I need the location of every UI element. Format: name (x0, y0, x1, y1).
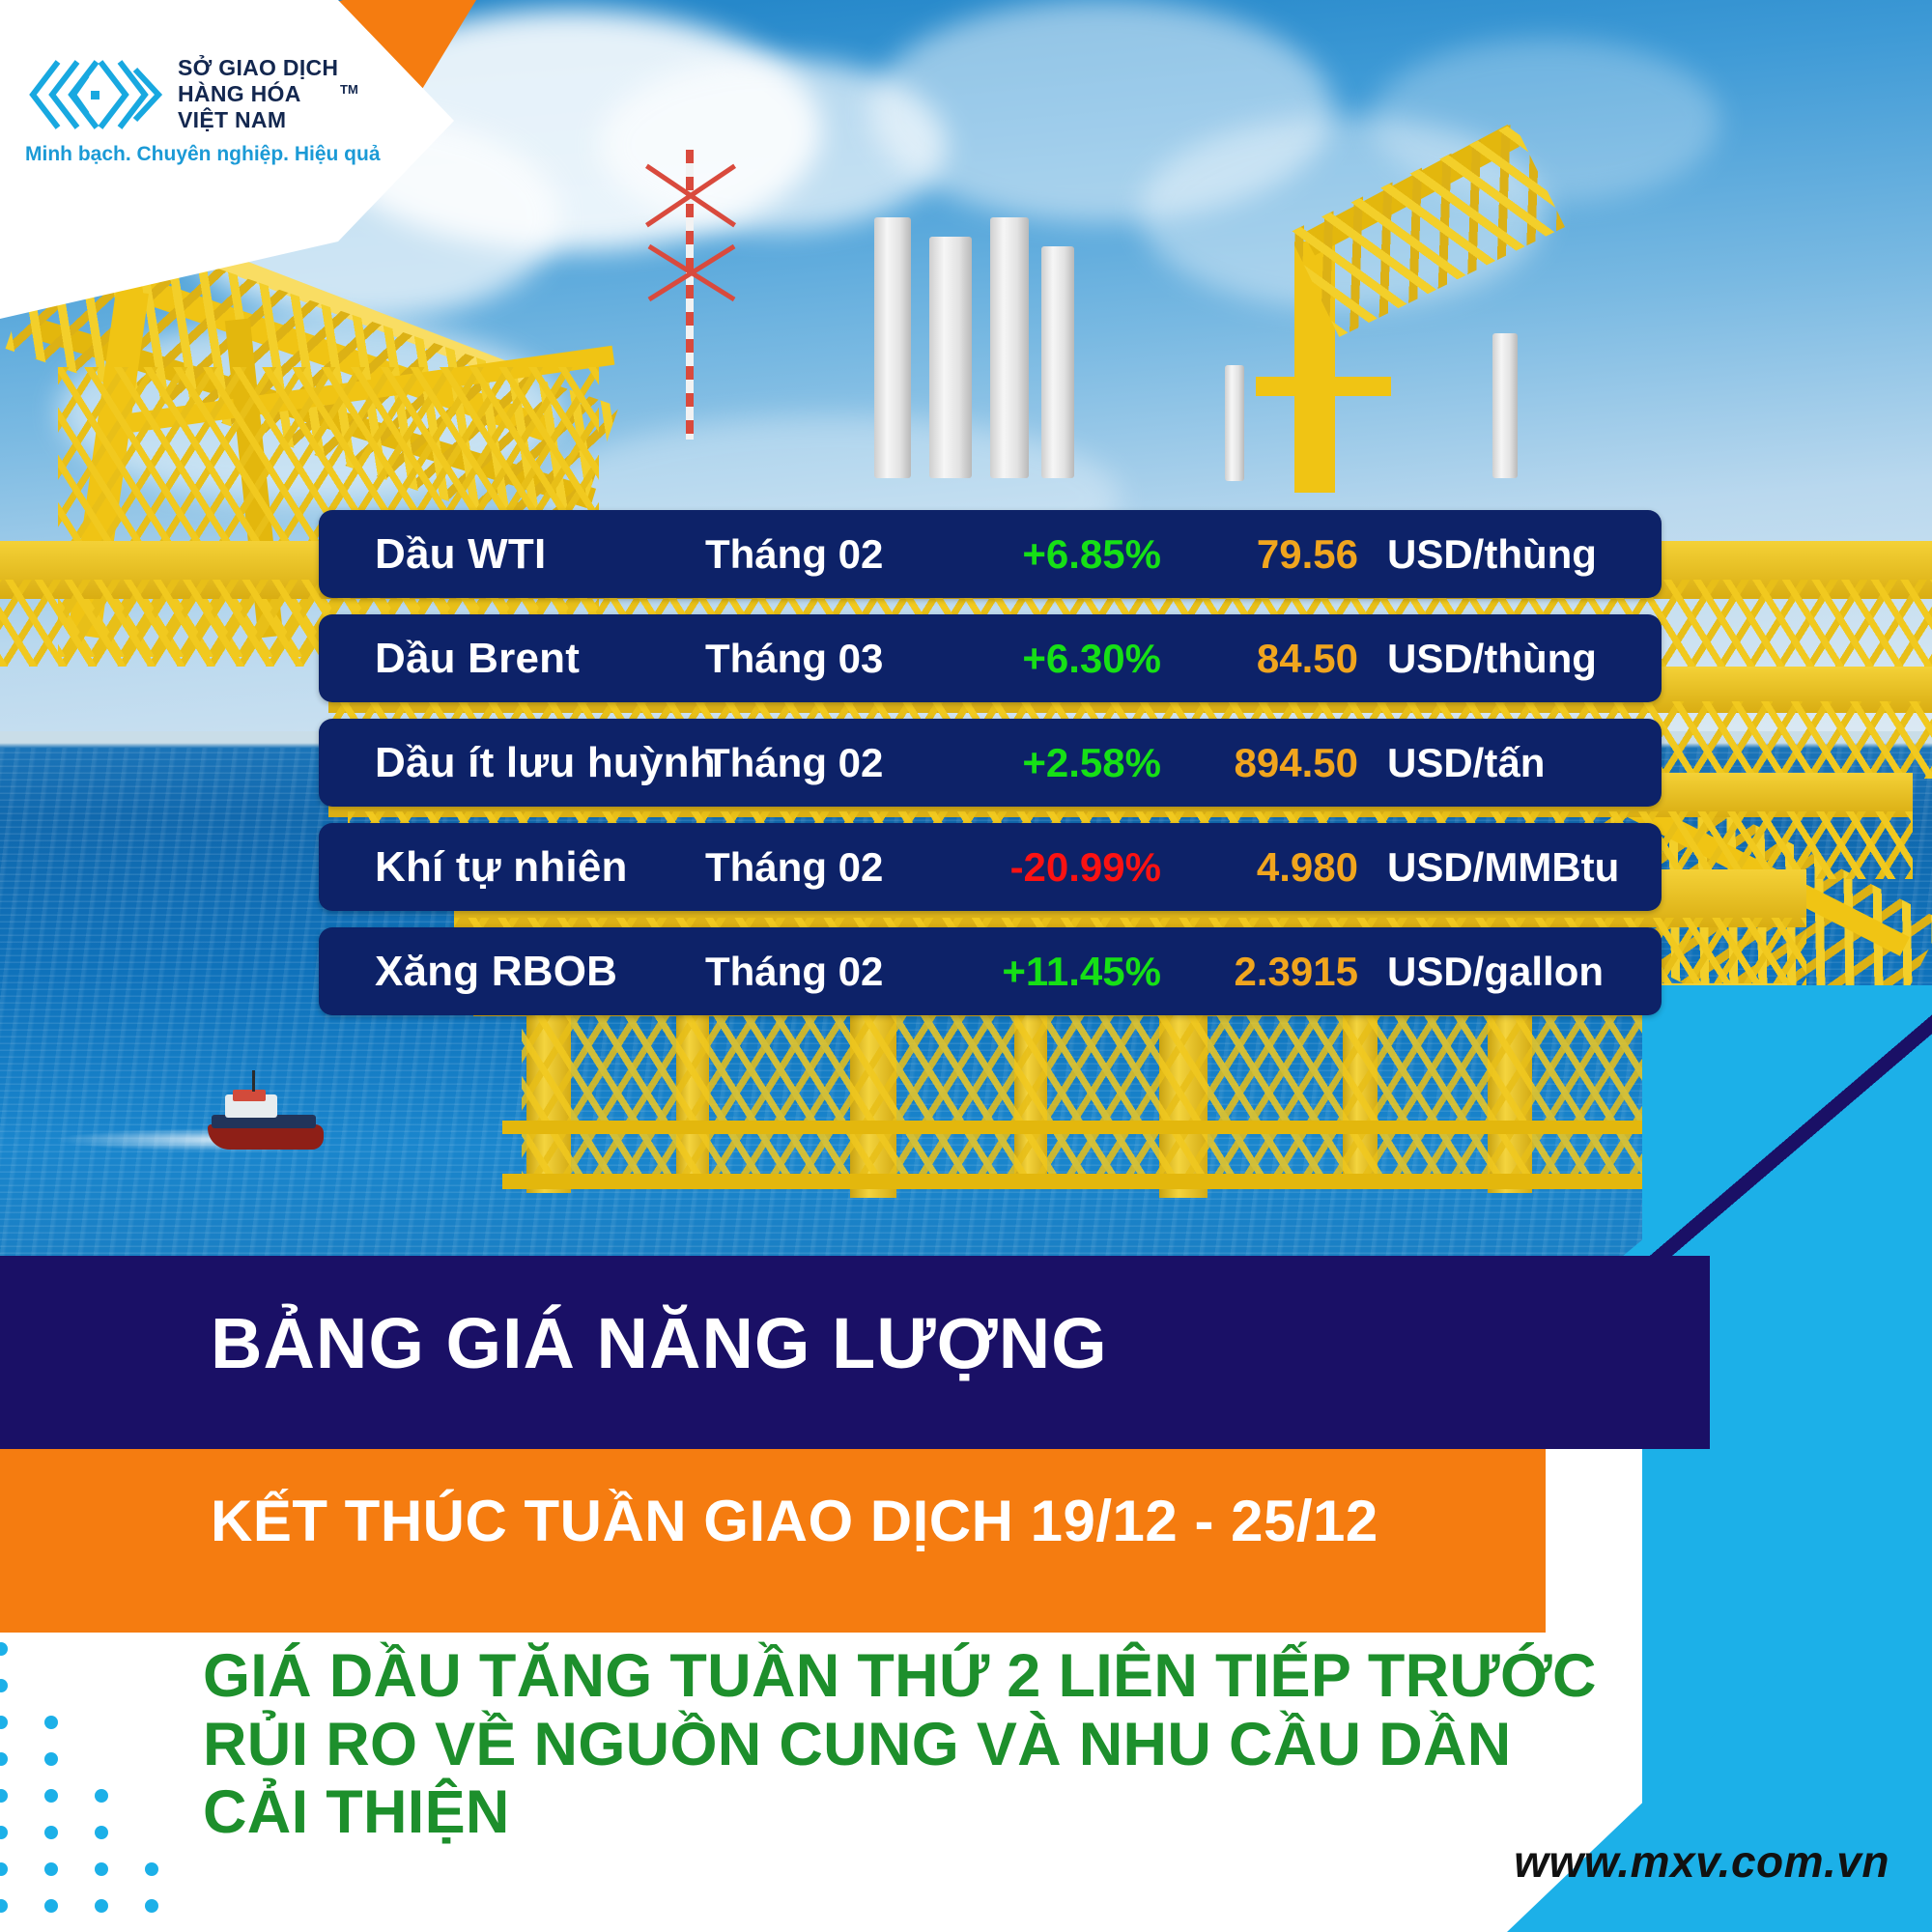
dot-pattern-decoration (0, 1642, 222, 1932)
contract-month: Tháng 03 (705, 636, 925, 682)
price-value: 4.980 (1167, 844, 1387, 891)
change-percent: -20.99% (925, 844, 1167, 891)
headline-line-3: CẢI THIỆN (203, 1778, 1584, 1847)
decorative-dot (95, 1826, 108, 1839)
price-unit: USD/tấn (1387, 740, 1662, 786)
commodity-name: Khí tự nhiên (319, 843, 705, 892)
commodity-name: Xăng RBOB (319, 948, 705, 996)
change-percent: +11.45% (925, 949, 1167, 995)
contract-month: Tháng 02 (705, 949, 925, 995)
contract-month: Tháng 02 (705, 844, 925, 891)
brand-name-line2: HÀNG HÓA (178, 81, 338, 107)
brand-tagline: Minh bạch. Chuyên nghiệp. Hiệu quả (25, 143, 381, 166)
decorative-dot (0, 1716, 8, 1729)
decorative-dot (0, 1826, 8, 1839)
table-row: Dầu ít lưu huỳnh Tháng 02 +2.58% 894.50 … (319, 719, 1662, 807)
price-value: 79.56 (1167, 531, 1387, 578)
price-value: 2.3915 (1167, 949, 1387, 995)
decorative-dot (0, 1862, 8, 1876)
brand-name-line1: SỞ GIAO DỊCH (178, 55, 338, 81)
brand-name-line3: VIỆT NAM (178, 107, 338, 133)
decorative-dot (0, 1789, 8, 1803)
page-title: BẢNG GIÁ NĂNG LƯỢNG (211, 1302, 1108, 1384)
decorative-dot (0, 1679, 8, 1692)
table-row: Dầu Brent Tháng 03 +6.30% 84.50 USD/thùn… (319, 614, 1662, 702)
price-unit: USD/thùng (1387, 531, 1662, 578)
decorative-dot (44, 1789, 58, 1803)
infographic-poster: TM SỞ GIAO DỊCH HÀNG HÓA VIỆT NAM Minh b… (0, 0, 1932, 1932)
energy-price-table: Dầu WTI Tháng 02 +6.85% 79.56 USD/thùng … (319, 510, 1662, 1032)
headline-line-2: RỦI RO VỀ NGUỒN CUNG VÀ NHU CẦU DẦN (203, 1711, 1584, 1779)
contract-month: Tháng 02 (705, 740, 925, 786)
decorative-dot (95, 1862, 108, 1876)
navy-diagonal-stripe (1633, 995, 1932, 1285)
decorative-dot (0, 1752, 8, 1766)
price-value: 84.50 (1167, 636, 1387, 682)
decorative-dot (145, 1899, 158, 1913)
commodity-name: Dầu ít lưu huỳnh (319, 739, 705, 787)
page-subtitle: KẾT THÚC TUẦN GIAO DỊCH 19/12 - 25/12 (211, 1488, 1378, 1554)
price-unit: USD/thùng (1387, 636, 1662, 682)
decorative-dot (44, 1716, 58, 1729)
price-unit: USD/gallon (1387, 949, 1662, 995)
website-url[interactable]: www.mxv.com.vn (1514, 1835, 1889, 1888)
decorative-dot (44, 1862, 58, 1876)
headline-line-1: GIÁ DẦU TĂNG TUẦN THỨ 2 LIÊN TIẾP TRƯỚC (203, 1642, 1584, 1711)
change-percent: +6.30% (925, 636, 1167, 682)
commodity-name: Dầu WTI (319, 530, 705, 579)
contract-month: Tháng 02 (705, 531, 925, 578)
decorative-dot (0, 1899, 8, 1913)
price-value: 894.50 (1167, 740, 1387, 786)
decorative-dot (44, 1826, 58, 1839)
trademark-symbol: TM (340, 82, 358, 97)
decorative-dot (95, 1789, 108, 1803)
table-row: Khí tự nhiên Tháng 02 -20.99% 4.980 USD/… (319, 823, 1662, 911)
mxv-chevron-logo-icon (27, 56, 164, 133)
decorative-dot (44, 1752, 58, 1766)
decorative-dot (0, 1642, 8, 1656)
decorative-dot (44, 1899, 58, 1913)
price-unit: USD/MMBtu (1387, 844, 1662, 891)
table-row: Xăng RBOB Tháng 02 +11.45% 2.3915 USD/ga… (319, 927, 1662, 1015)
commodity-name: Dầu Brent (319, 635, 705, 683)
news-headline: GIÁ DẦU TĂNG TUẦN THỨ 2 LIÊN TIẾP TRƯỚC … (203, 1642, 1584, 1847)
table-row: Dầu WTI Tháng 02 +6.85% 79.56 USD/thùng (319, 510, 1662, 598)
change-percent: +6.85% (925, 531, 1167, 578)
decorative-dot (95, 1899, 108, 1913)
brand-logo-group: TM SỞ GIAO DỊCH HÀNG HÓA VIỆT NAM (27, 29, 394, 159)
change-percent: +2.58% (925, 740, 1167, 786)
decorative-dot (145, 1862, 158, 1876)
